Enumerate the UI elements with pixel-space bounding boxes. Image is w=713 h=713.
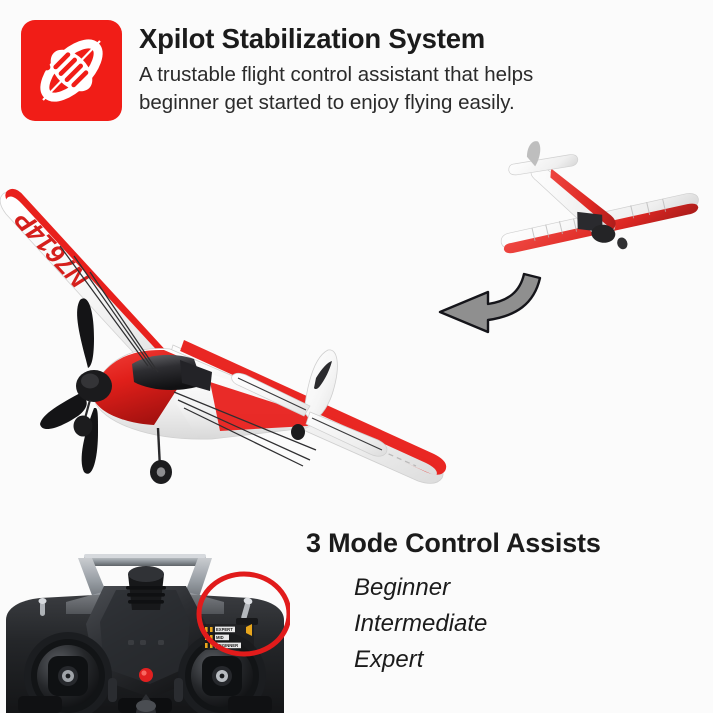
mode-label-expert: EXPERT xyxy=(216,627,233,632)
main-plane-propeller xyxy=(40,298,112,473)
bottom-section: EXPERT MID BEGINNER xyxy=(0,518,713,713)
header-section: Xpilot Stabilization System A trustable … xyxy=(0,0,713,130)
power-led-indicator xyxy=(139,668,153,682)
main-plane-fuselage xyxy=(94,348,314,492)
xpilot-gyroscope-icon xyxy=(21,20,122,121)
page-title: Xpilot Stabilization System xyxy=(139,22,699,56)
mode-item-expert: Expert xyxy=(306,642,706,678)
header-text-group: Xpilot Stabilization System A trustable … xyxy=(139,22,699,117)
product-feature-panel: Xpilot Stabilization System A trustable … xyxy=(0,0,713,713)
mode-section-title: 3 Mode Control Assists xyxy=(306,526,706,560)
mode-item-intermediate: Intermediate xyxy=(306,606,706,642)
mode-text-group: 3 Mode Control Assists Beginner Intermed… xyxy=(306,526,706,678)
rc-airplane-main: N7614P xyxy=(0,160,468,500)
mode-list: Beginner Intermediate Expert xyxy=(306,570,706,678)
mode-label-mid: MID xyxy=(216,635,224,640)
airplane-illustration: N7614P xyxy=(0,118,713,518)
wing-registration-text: N7614P xyxy=(8,205,94,295)
header-description-line-2: beginner get started to enjoy flying eas… xyxy=(139,89,699,117)
rc-transmitter: EXPERT MID BEGINNER xyxy=(0,528,290,713)
header-description-line-1: A trustable flight control assistant tha… xyxy=(139,61,699,89)
mode-item-beginner: Beginner xyxy=(306,570,706,606)
curved-recovery-arrow xyxy=(428,270,578,360)
